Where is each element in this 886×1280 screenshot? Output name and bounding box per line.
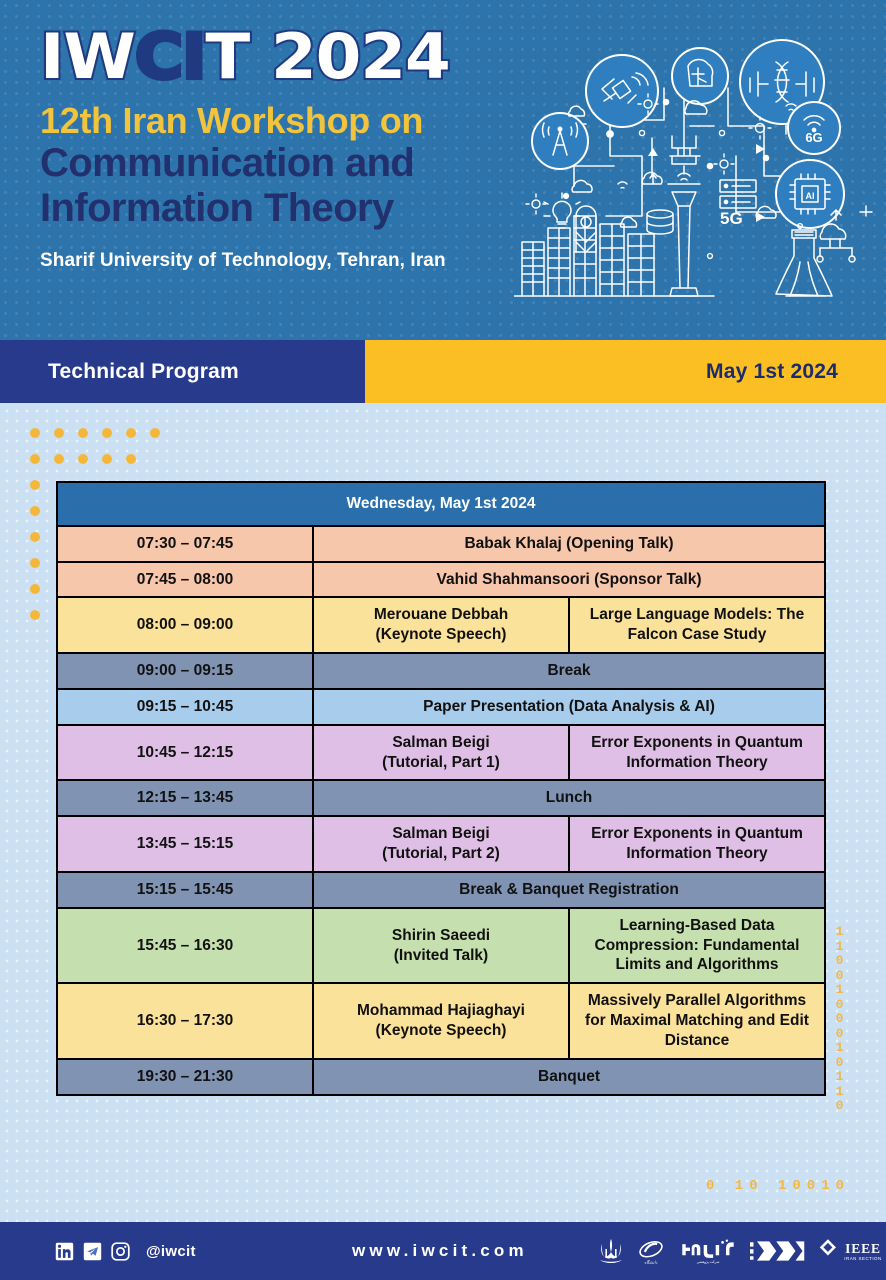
decorative-dot xyxy=(54,428,64,438)
talk-title-cell: Massively Parallel Algorithms for Maxima… xyxy=(569,983,825,1058)
speaker-cell: Salman Beigi(Tutorial, Part 2) xyxy=(313,816,569,872)
wordmark-year: 2024 xyxy=(271,20,450,93)
table-row: 09:00 – 09:15Break xyxy=(57,653,825,689)
poster-page: IWCIT 2024 12th Iran Workshop on Communi… xyxy=(0,0,886,1280)
database-icon xyxy=(647,210,673,234)
table-row: 13:45 – 15:15Salman Beigi(Tutorial, Part… xyxy=(57,816,825,872)
binary-digit: 1 xyxy=(822,983,858,998)
schedule-table: Wednesday, May 1st 2024 07:30 – 07:45Bab… xyxy=(56,481,826,1096)
decorative-dot xyxy=(30,532,40,542)
table-row: 19:30 – 21:30Banquet xyxy=(57,1059,825,1095)
talk-title-cell: Error Exponents in Quantum Information T… xyxy=(569,725,825,781)
table-row: 08:00 – 09:00Merouane Debbah(Keynote Spe… xyxy=(57,597,825,653)
session-title-cell: Banquet xyxy=(313,1059,825,1095)
time-cell: 16:30 – 17:30 xyxy=(57,983,313,1058)
svg-text:IRAN SECTION: IRAN SECTION xyxy=(844,1256,881,1261)
decorative-dot xyxy=(54,454,64,464)
decorative-dot xyxy=(30,506,40,516)
speaker-cell: Salman Beigi(Tutorial, Part 1) xyxy=(313,725,569,781)
talk-title-cell: Error Exponents in Quantum Information T… xyxy=(569,816,825,872)
time-cell: 07:45 – 08:00 xyxy=(57,562,313,598)
time-cell: 15:45 – 16:30 xyxy=(57,908,313,983)
parman-logo: شرکت پژوهشی xyxy=(678,1237,738,1265)
binary-digit: 0 xyxy=(822,954,858,969)
city-buildings-icon xyxy=(514,206,714,296)
poster-footer: @iwcit www.iwcit.com xyxy=(0,1222,886,1280)
svg-text:IEEE: IEEE xyxy=(845,1241,881,1256)
6g-label: 6G xyxy=(805,130,822,145)
decorative-dot xyxy=(78,454,88,464)
session-title-cell: Babak Khalaj (Opening Talk) xyxy=(313,526,825,562)
binary-digit: 0 xyxy=(822,1027,858,1042)
binary-decoration-bottom: 0 10 10010 xyxy=(706,1178,850,1194)
header-text-block: IWCIT 2024 12th Iran Workshop on Communi… xyxy=(40,26,510,272)
session-title-cell: Break xyxy=(313,653,825,689)
azadi-tower-icon xyxy=(776,230,832,296)
website-url[interactable]: www.iwcit.com xyxy=(352,1241,528,1261)
speaker-cell: Shirin Saeedi(Invited Talk) xyxy=(313,908,569,983)
svg-text:دانشگاه: دانشگاه xyxy=(645,1259,658,1264)
title-line-2: Information Theory xyxy=(40,186,510,231)
time-cell: 07:30 – 07:45 xyxy=(57,526,313,562)
time-cell: 09:15 – 10:45 xyxy=(57,689,313,725)
tech-illustration: 6G AI xyxy=(514,16,874,322)
decorative-dot xyxy=(30,454,40,464)
decorative-dot xyxy=(30,480,40,490)
decorative-dot xyxy=(150,428,160,438)
sponsor-logos: دانشگاه شرکت پژوهشی xyxy=(598,1236,886,1266)
talk-title-cell: Learning-Based Data Compression: Fundame… xyxy=(569,908,825,983)
talk-title-cell: Large Language Models: The Falcon Case S… xyxy=(569,597,825,653)
decorative-dot xyxy=(30,584,40,594)
decorative-dot xyxy=(30,428,40,438)
technical-program-banner: Technical Program xyxy=(0,340,365,403)
binary-digit: 0 xyxy=(822,1012,858,1027)
session-title-cell: Paper Presentation (Data Analysis & AI) xyxy=(313,689,825,725)
title-line-1: Communication and xyxy=(40,141,510,186)
table-row: 07:45 – 08:00Vahid Shahmansoori (Sponsor… xyxy=(57,562,825,598)
binary-digit: 0 xyxy=(822,1056,858,1071)
table-row: 15:15 – 15:45Break & Banquet Registratio… xyxy=(57,872,825,908)
telegram-icon[interactable] xyxy=(83,1242,102,1261)
table-row: 07:30 – 07:45Babak Khalaj (Opening Talk) xyxy=(57,526,825,562)
binary-digit: 1 xyxy=(822,925,858,940)
linkedin-icon[interactable] xyxy=(55,1242,74,1261)
time-cell: 10:45 – 12:15 xyxy=(57,725,313,781)
time-cell: 08:00 – 09:00 xyxy=(57,597,313,653)
session-title-cell: Lunch xyxy=(313,780,825,816)
table-row: 15:45 – 16:30Shirin Saeedi(Invited Talk)… xyxy=(57,908,825,983)
table-row: 16:30 – 17:30Mohammad Hajiaghayi(Keynote… xyxy=(57,983,825,1058)
social-handle: @iwcit xyxy=(146,1243,196,1260)
table-row: 10:45 – 12:15Salman Beigi(Tutorial, Part… xyxy=(57,725,825,781)
edition-line: 12th Iran Workshop on xyxy=(40,102,510,141)
decorative-dot xyxy=(78,428,88,438)
binary-digit: 0 xyxy=(822,969,858,984)
5g-label: 5G xyxy=(720,209,743,228)
time-cell: 12:15 – 13:45 xyxy=(57,780,313,816)
decorative-dot xyxy=(30,610,40,620)
table-day-header-row: Wednesday, May 1st 2024 xyxy=(57,482,825,526)
binary-digit: 1 xyxy=(822,940,858,955)
date-label: May 1st 2024 xyxy=(706,360,838,384)
program-bar: Technical Program May 1st 2024 xyxy=(0,340,886,403)
poster-header: IWCIT 2024 12th Iran Workshop on Communi… xyxy=(0,0,886,340)
time-cell: 15:15 – 15:45 xyxy=(57,872,313,908)
technical-program-label: Technical Program xyxy=(48,360,239,384)
time-cell: 09:00 – 09:15 xyxy=(57,653,313,689)
binary-digit: 0 xyxy=(822,1099,858,1114)
decorative-dot xyxy=(126,428,136,438)
session-title-cell: Break & Banquet Registration xyxy=(313,872,825,908)
ai-label: AI xyxy=(806,191,815,201)
decorative-dot xyxy=(102,428,112,438)
decorative-dot xyxy=(126,454,136,464)
iwcit-wordmark: IWCIT 2024 xyxy=(40,26,538,88)
schedule-table-wrapper: Wednesday, May 1st 2024 07:30 – 07:45Bab… xyxy=(56,481,826,1096)
binary-digit: 1 xyxy=(822,1041,858,1056)
wordmark-ci: CI xyxy=(135,20,206,93)
binary-digit: 0 xyxy=(822,998,858,1013)
speaker-cell: Merouane Debbah(Keynote Speech) xyxy=(313,597,569,653)
table-row: 12:15 – 13:45Lunch xyxy=(57,780,825,816)
wordmark-iw: IW xyxy=(40,20,135,93)
decorative-dot xyxy=(30,558,40,568)
binary-digit: 1 xyxy=(822,1070,858,1085)
wordmark-t: T xyxy=(205,20,249,93)
date-banner: May 1st 2024 xyxy=(365,340,886,403)
iran-emblem-logo xyxy=(598,1236,624,1266)
venue-line: Sharif University of Technology, Tehran,… xyxy=(40,250,510,272)
sharif-university-logo: دانشگاه xyxy=(636,1236,666,1266)
time-cell: 19:30 – 21:30 xyxy=(57,1059,313,1095)
binary-digit: 1 xyxy=(822,1085,858,1100)
ieee-iran-section-logo: IEEE IRAN SECTION xyxy=(818,1237,886,1265)
speaker-cell: Mohammad Hajiaghayi(Keynote Speech) xyxy=(313,983,569,1058)
time-cell: 13:45 – 15:15 xyxy=(57,816,313,872)
server-icon xyxy=(720,180,756,208)
instagram-icon[interactable] xyxy=(111,1242,130,1261)
table-row: 09:15 – 10:45Paper Presentation (Data An… xyxy=(57,689,825,725)
day-header-cell: Wednesday, May 1st 2024 xyxy=(57,482,825,526)
svg-text:شرکت پژوهشی: شرکت پژوهشی xyxy=(697,1260,720,1264)
icc-logo xyxy=(750,1239,806,1263)
binary-decoration-right: 1100100010110 xyxy=(822,925,858,1114)
session-title-cell: Vahid Shahmansoori (Sponsor Talk) xyxy=(313,562,825,598)
decorative-dot xyxy=(102,454,112,464)
social-links[interactable]: @iwcit xyxy=(55,1242,196,1261)
